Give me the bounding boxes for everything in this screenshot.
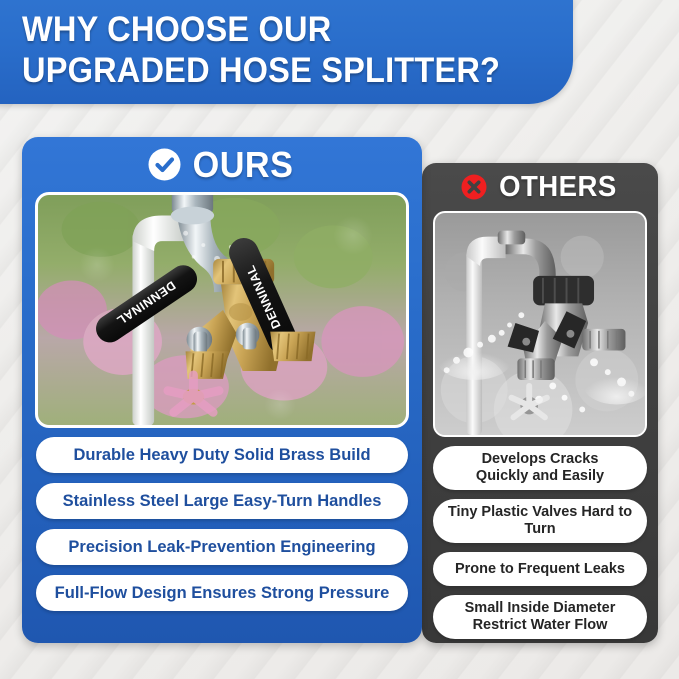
list-item: Develops Cracks Quickly and Easily [433, 446, 647, 490]
others-product-photo [433, 211, 647, 437]
list-item: Prone to Frequent Leaks [433, 552, 647, 586]
list-item: Small Inside Diameter Restrict Water Flo… [433, 595, 647, 639]
ours-title: OURS [193, 144, 294, 186]
list-item: Precision Leak-Prevention Engineering [36, 529, 408, 565]
others-title: OTHERS [499, 171, 617, 204]
ours-heading: OURS [22, 137, 422, 192]
others-feature-list: Develops Cracks Quickly and Easily Tiny … [422, 437, 658, 639]
ours-product-photo-image: DENNINAL DENNINAL [38, 195, 406, 425]
others-comparison-panel: OTHERS [422, 163, 658, 643]
infographic-page: WHY CHOOSE OUR UPGRADED HOSE SPLITTER? O… [0, 0, 679, 679]
ours-product-photo: DENNINAL DENNINAL [35, 192, 409, 428]
banner-headline-line-2: UPGRADED HOSE SPLITTER? [22, 50, 534, 92]
list-item: Durable Heavy Duty Solid Brass Build [36, 437, 408, 473]
ours-comparison-panel: OURS [22, 137, 422, 643]
list-item: Stainless Steel Large Easy-Turn Handles [36, 483, 408, 519]
list-item: Tiny Plastic Valves Hard to Turn [433, 499, 647, 543]
list-item: Full-Flow Design Ensures Strong Pressure [36, 575, 408, 611]
others-heading: OTHERS [422, 163, 658, 211]
x-circle-icon [461, 174, 487, 200]
banner-headline-line-1: WHY CHOOSE OUR [22, 10, 534, 50]
header-banner: WHY CHOOSE OUR UPGRADED HOSE SPLITTER? [0, 0, 573, 104]
ours-feature-list: Durable Heavy Duty Solid Brass Build Sta… [22, 428, 422, 611]
check-circle-icon [148, 148, 181, 181]
others-product-photo-image [435, 213, 645, 435]
